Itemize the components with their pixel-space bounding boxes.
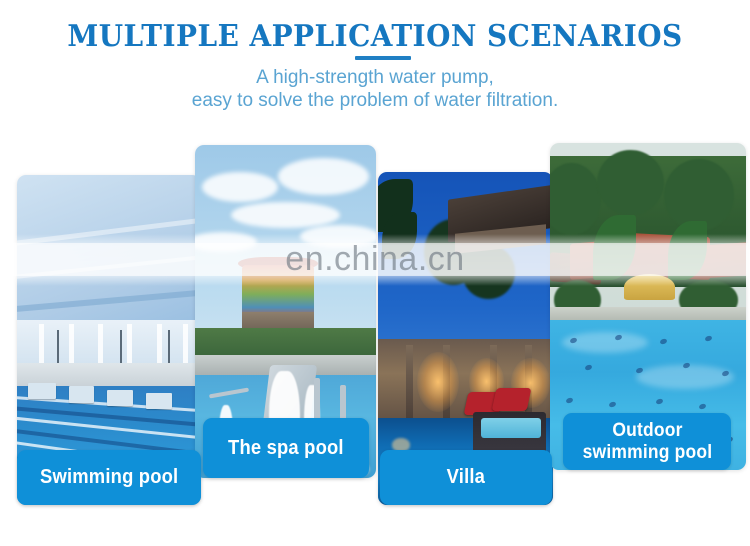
card-label-villa[interactable]: Villa: [380, 450, 552, 505]
yellow-umbrella: [624, 274, 675, 300]
wall-post: [120, 330, 122, 366]
window-strip: [39, 324, 44, 364]
pool-tile-marking: [698, 403, 706, 410]
card-label-text: Swimming pool: [40, 466, 178, 488]
card-label-spa-pool[interactable]: The spa pool: [203, 418, 369, 478]
starting-block: [107, 390, 133, 407]
colorful-tower-building: [242, 265, 314, 318]
pool-tile-marking: [704, 335, 712, 342]
pool-tile-marking: [565, 397, 573, 404]
spa-water: [481, 418, 541, 438]
cloud: [231, 202, 340, 229]
cloud: [202, 172, 278, 202]
far-wall-layer: [17, 320, 201, 366]
warm-light-glow: [417, 352, 459, 412]
tree-canopy: [597, 150, 664, 215]
villa-column: [406, 345, 413, 418]
window-strip: [69, 324, 74, 364]
wall-post: [168, 330, 170, 366]
card-label-text: Villa: [447, 466, 485, 488]
starting-block: [28, 383, 56, 400]
tree-canopy: [462, 245, 515, 298]
window-strip: [98, 324, 103, 364]
red-lounger: [491, 388, 531, 411]
pool-tile-marking: [608, 401, 616, 408]
card-label-swimming-pool[interactable]: Swimming pool: [17, 450, 201, 505]
starting-block: [146, 393, 172, 410]
pool-tile-marking: [655, 398, 663, 405]
starting-block: [69, 386, 95, 403]
cloud: [300, 225, 376, 248]
window-strip: [183, 324, 188, 364]
card-label-text: Outdoor swimming pool: [582, 420, 712, 463]
pool-tile-marking: [659, 338, 667, 345]
promo-banner: MULTIPLE APPLICATION SCENARIOS A high-st…: [0, 0, 750, 546]
card-label-text: The spa pool: [228, 437, 344, 459]
wall-post: [57, 330, 59, 366]
pool-tile-marking: [585, 364, 593, 371]
window-strip: [127, 324, 132, 364]
card-label-outdoor-swimming-pool[interactable]: Outdoor swimming pool: [563, 413, 731, 470]
window-strip: [157, 324, 162, 364]
cloud: [278, 158, 369, 195]
cloud: [195, 232, 257, 252]
